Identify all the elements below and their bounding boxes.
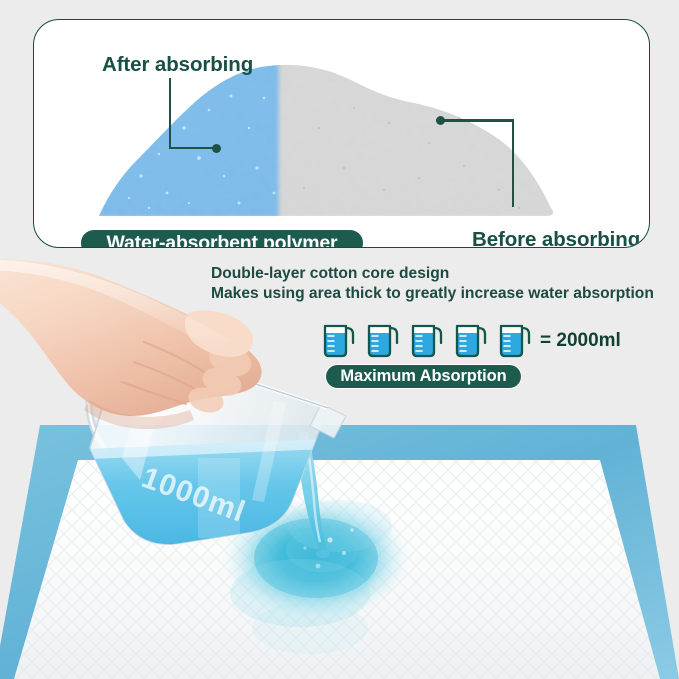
- hand-holding-pitcher: [0, 250, 354, 550]
- label-before-absorbing: Before absorbing: [472, 228, 640, 248]
- beaker-icon: [410, 321, 444, 359]
- beaker-icon: [366, 321, 400, 359]
- leader-line-before-horizontal: [443, 119, 514, 121]
- crystal-mound-illustration: [89, 58, 569, 218]
- equals-volume-label: = 2000ml: [540, 330, 621, 352]
- leader-line-after-horizontal: [169, 147, 216, 149]
- leader-dot-after: [212, 144, 221, 153]
- label-after-absorbing: After absorbing: [102, 53, 253, 77]
- leader-line-after-vertical: [169, 78, 171, 149]
- leader-line-before-vertical: [512, 119, 514, 207]
- beaker-icon: [454, 321, 488, 359]
- polymer-comparison-card: After absorbing Before absorbing Water-a…: [33, 19, 650, 248]
- badge-water-absorbent-polymer: Water-absorbent polymer: [80, 229, 364, 248]
- product-infographic: After absorbing Before absorbing Water-a…: [0, 0, 679, 679]
- beaker-icon: [498, 321, 532, 359]
